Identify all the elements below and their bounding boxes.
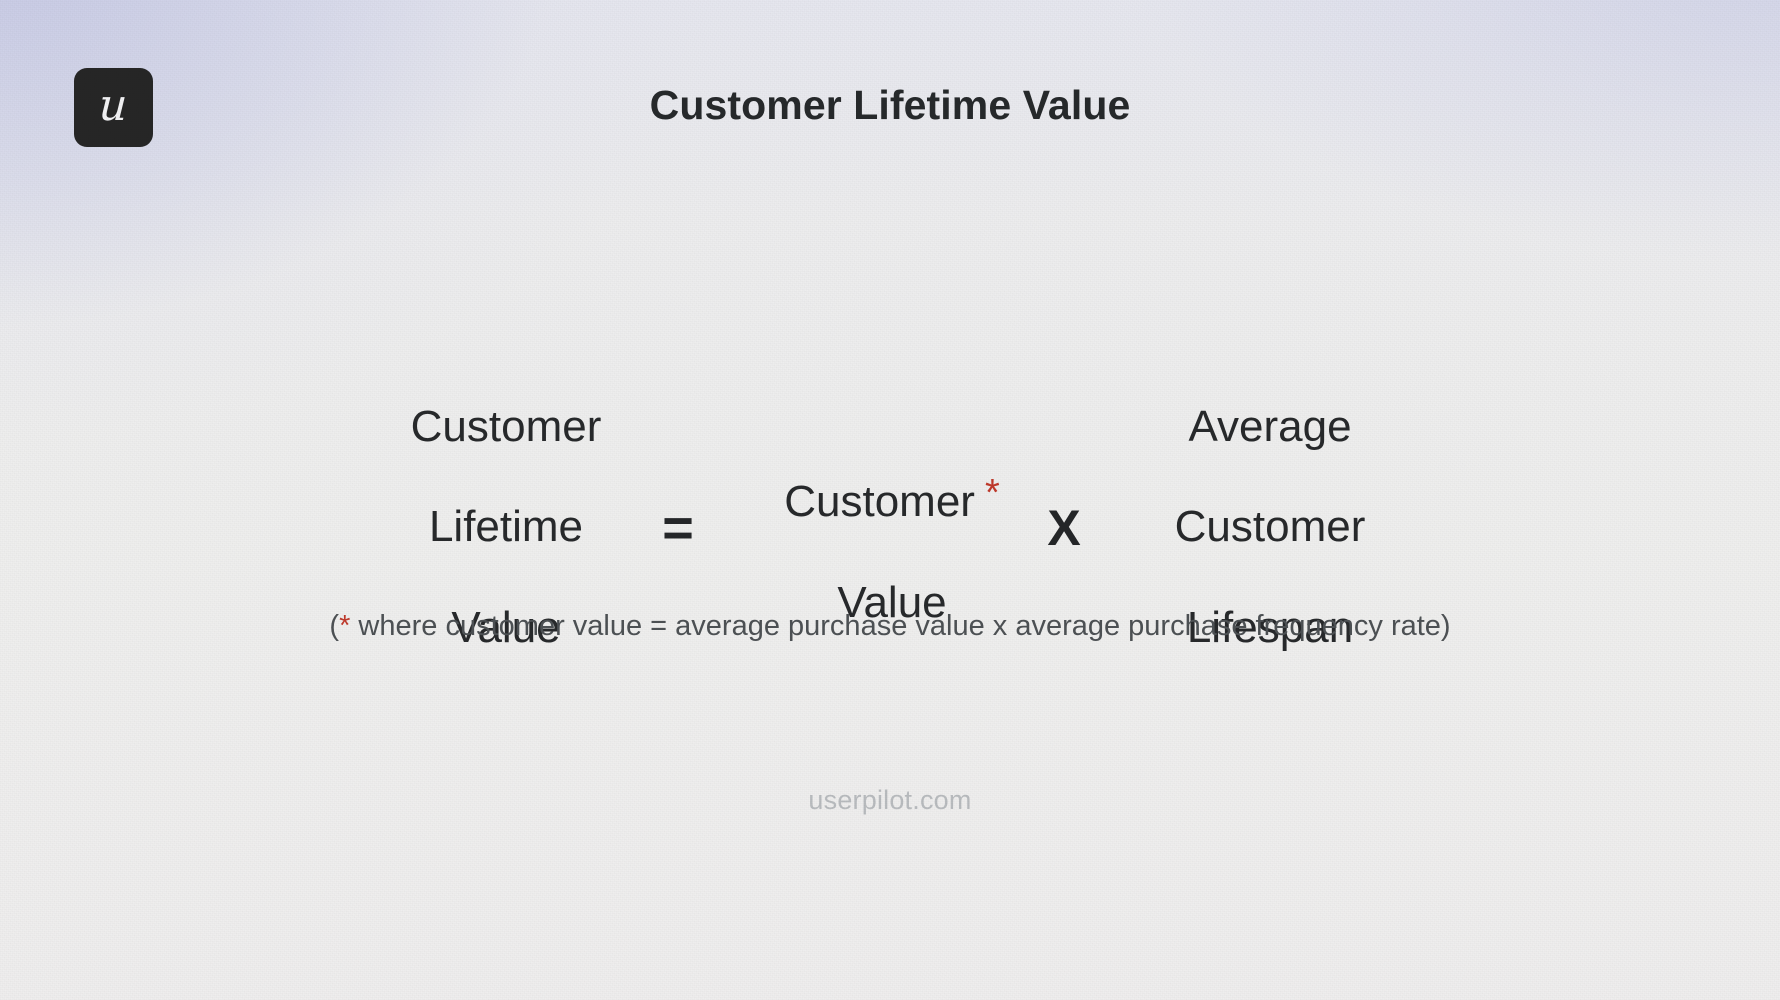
term-line-1: Customer xyxy=(371,402,641,452)
term-line-2: Customer xyxy=(1131,502,1409,552)
formula-term-customer-lifetime-value: Customer Lifetime Value xyxy=(371,352,641,703)
formula-term-average-customer-lifespan: Average Customer Lifespan xyxy=(1131,352,1409,703)
watermark: userpilot.com xyxy=(0,785,1780,816)
footnote-open-paren: ( xyxy=(329,610,339,642)
footnote-asterisk: * xyxy=(339,610,350,642)
footnote-text: where customer value = average purchase … xyxy=(350,610,1450,642)
term-line-1: Average xyxy=(1131,402,1409,452)
equals-operator: = xyxy=(641,497,715,559)
footnote-asterisk-marker: * xyxy=(985,472,1000,514)
term-line-1: Customer xyxy=(784,477,975,527)
term-line-1-wrap: Customer* xyxy=(757,427,1027,527)
infographic-canvas: u Customer Lifetime Value Customer Lifet… xyxy=(0,0,1780,1000)
multiply-operator: X xyxy=(1027,499,1101,557)
term-line-2: Lifetime xyxy=(371,502,641,552)
footnote: (* where customer value = average purcha… xyxy=(0,610,1780,643)
formula-row: Customer Lifetime Value = Customer* Valu… xyxy=(0,352,1780,703)
page-title: Customer Lifetime Value xyxy=(0,82,1780,129)
